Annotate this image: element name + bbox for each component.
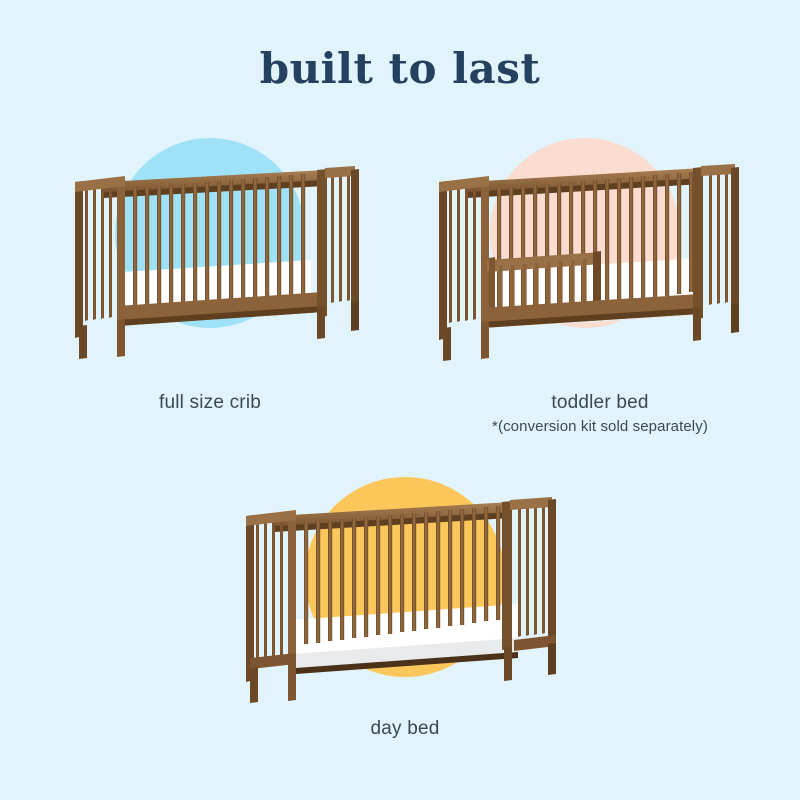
panel-day-bed: day bed	[230, 468, 580, 768]
day-bed-illustration	[230, 468, 570, 708]
page-title: built to last	[0, 44, 800, 93]
infographic-page: built to last	[0, 0, 800, 800]
panel-full-size-crib: full size crib	[55, 130, 365, 430]
toddler-bed-illustration	[425, 130, 765, 370]
caption-toddler-bed: toddler bed	[425, 392, 775, 414]
caption-day-bed: day bed	[230, 718, 580, 740]
caption-full-size-crib: full size crib	[55, 392, 365, 414]
full-size-crib-illustration	[55, 130, 365, 370]
panel-toddler-bed: toddler bed *(conversion kit sold separa…	[425, 130, 775, 450]
subcaption-toddler-bed: *(conversion kit sold separately)	[425, 418, 775, 435]
